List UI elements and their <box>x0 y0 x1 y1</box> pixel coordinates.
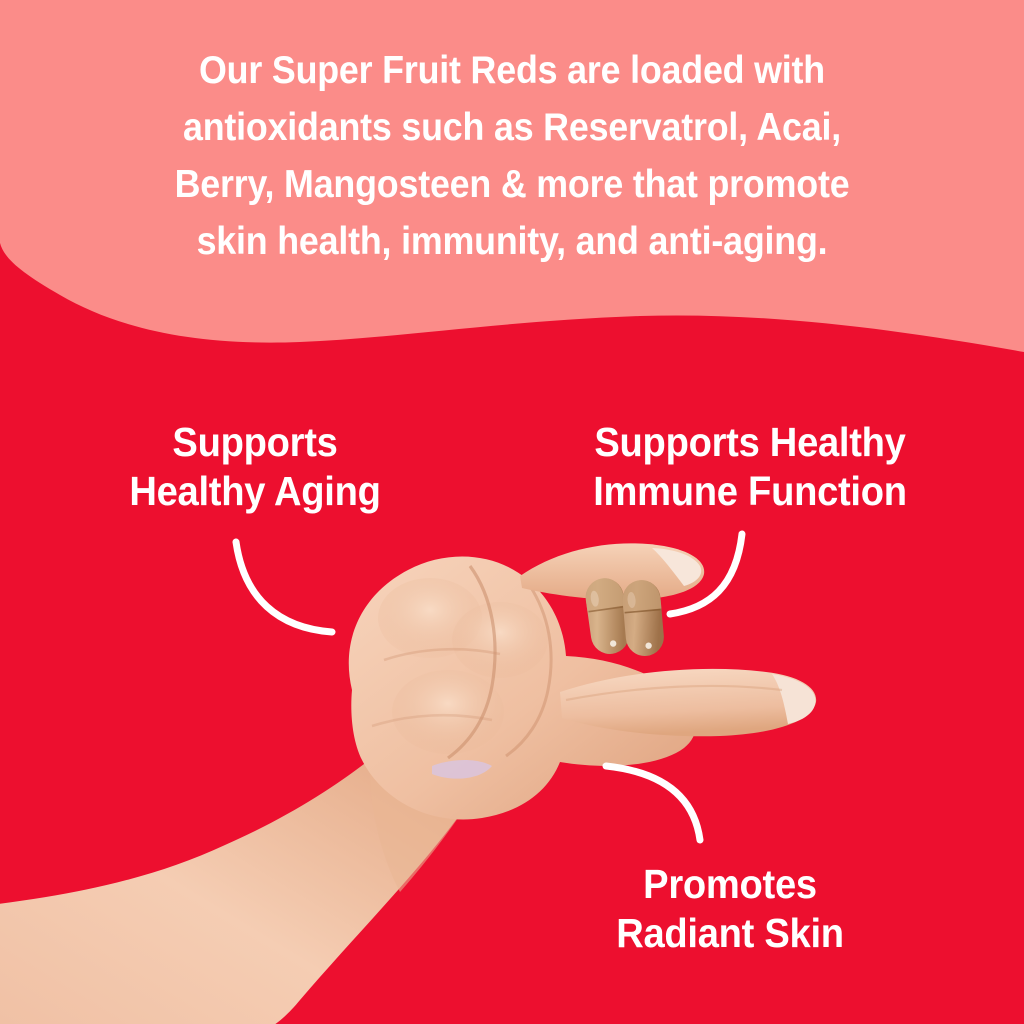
benefit-immune-line-1: Supports Healthy <box>536 418 964 467</box>
benefit-label-skin: Promotes Radiant Skin <box>544 860 916 958</box>
headline-paragraph: Our Super Fruit Reds are loaded with ant… <box>36 42 988 270</box>
benefit-label-aging: Supports Healthy Aging <box>69 418 441 516</box>
promo-graphic-canvas: Our Super Fruit Reds are loaded with ant… <box>0 0 1024 1024</box>
benefit-immune-line-2: Immune Function <box>536 467 964 516</box>
benefit-skin-line-1: Promotes <box>544 860 916 909</box>
headline-line-3: Berry, Mangosteen & more that promote <box>120 156 905 213</box>
benefit-skin-line-2: Radiant Skin <box>544 909 916 958</box>
benefit-aging-line-2: Healthy Aging <box>69 467 441 516</box>
headline-line-2: antioxidants such as Reservatrol, Acai, <box>120 99 905 156</box>
headline-line-4: skin health, immunity, and anti-aging. <box>120 213 905 270</box>
benefit-label-immune: Supports Healthy Immune Function <box>536 418 964 516</box>
benefit-aging-line-1: Supports <box>69 418 441 467</box>
headline-line-1: Our Super Fruit Reds are loaded with <box>120 42 905 99</box>
